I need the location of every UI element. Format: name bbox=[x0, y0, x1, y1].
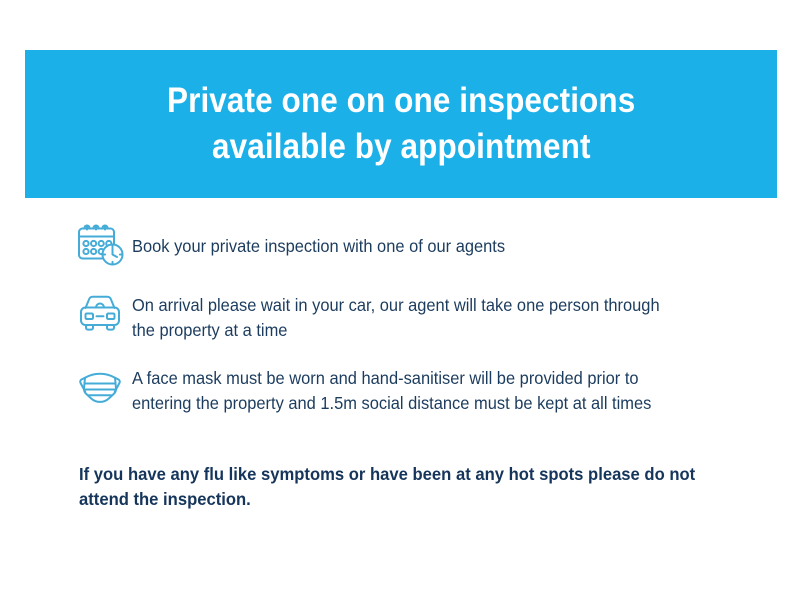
footer-warning-note: If you have any flu like symptoms or hav… bbox=[79, 462, 706, 513]
list-item-label: Book your private inspection with one of… bbox=[132, 222, 505, 259]
banner-title-line-1: Private one on one inspections bbox=[167, 78, 635, 124]
car-front-icon bbox=[76, 289, 132, 335]
calendar-clock-icon bbox=[76, 222, 132, 268]
points-list: Book your private inspection with one of… bbox=[0, 222, 800, 415]
header-banner: Private one on one inspections available… bbox=[25, 50, 777, 198]
list-item-label: A face mask must be worn and hand-saniti… bbox=[132, 362, 687, 416]
list-item: On arrival please wait in your car, our … bbox=[0, 289, 800, 343]
list-item-label: On arrival please wait in your car, our … bbox=[132, 289, 687, 343]
list-item: Book your private inspection with one of… bbox=[0, 222, 800, 268]
face-mask-icon bbox=[76, 362, 132, 408]
covid-inspection-notice: Private one on one inspections available… bbox=[0, 0, 800, 600]
banner-title-line-2: available by appointment bbox=[212, 124, 591, 170]
list-item: A face mask must be worn and hand-saniti… bbox=[0, 362, 800, 416]
